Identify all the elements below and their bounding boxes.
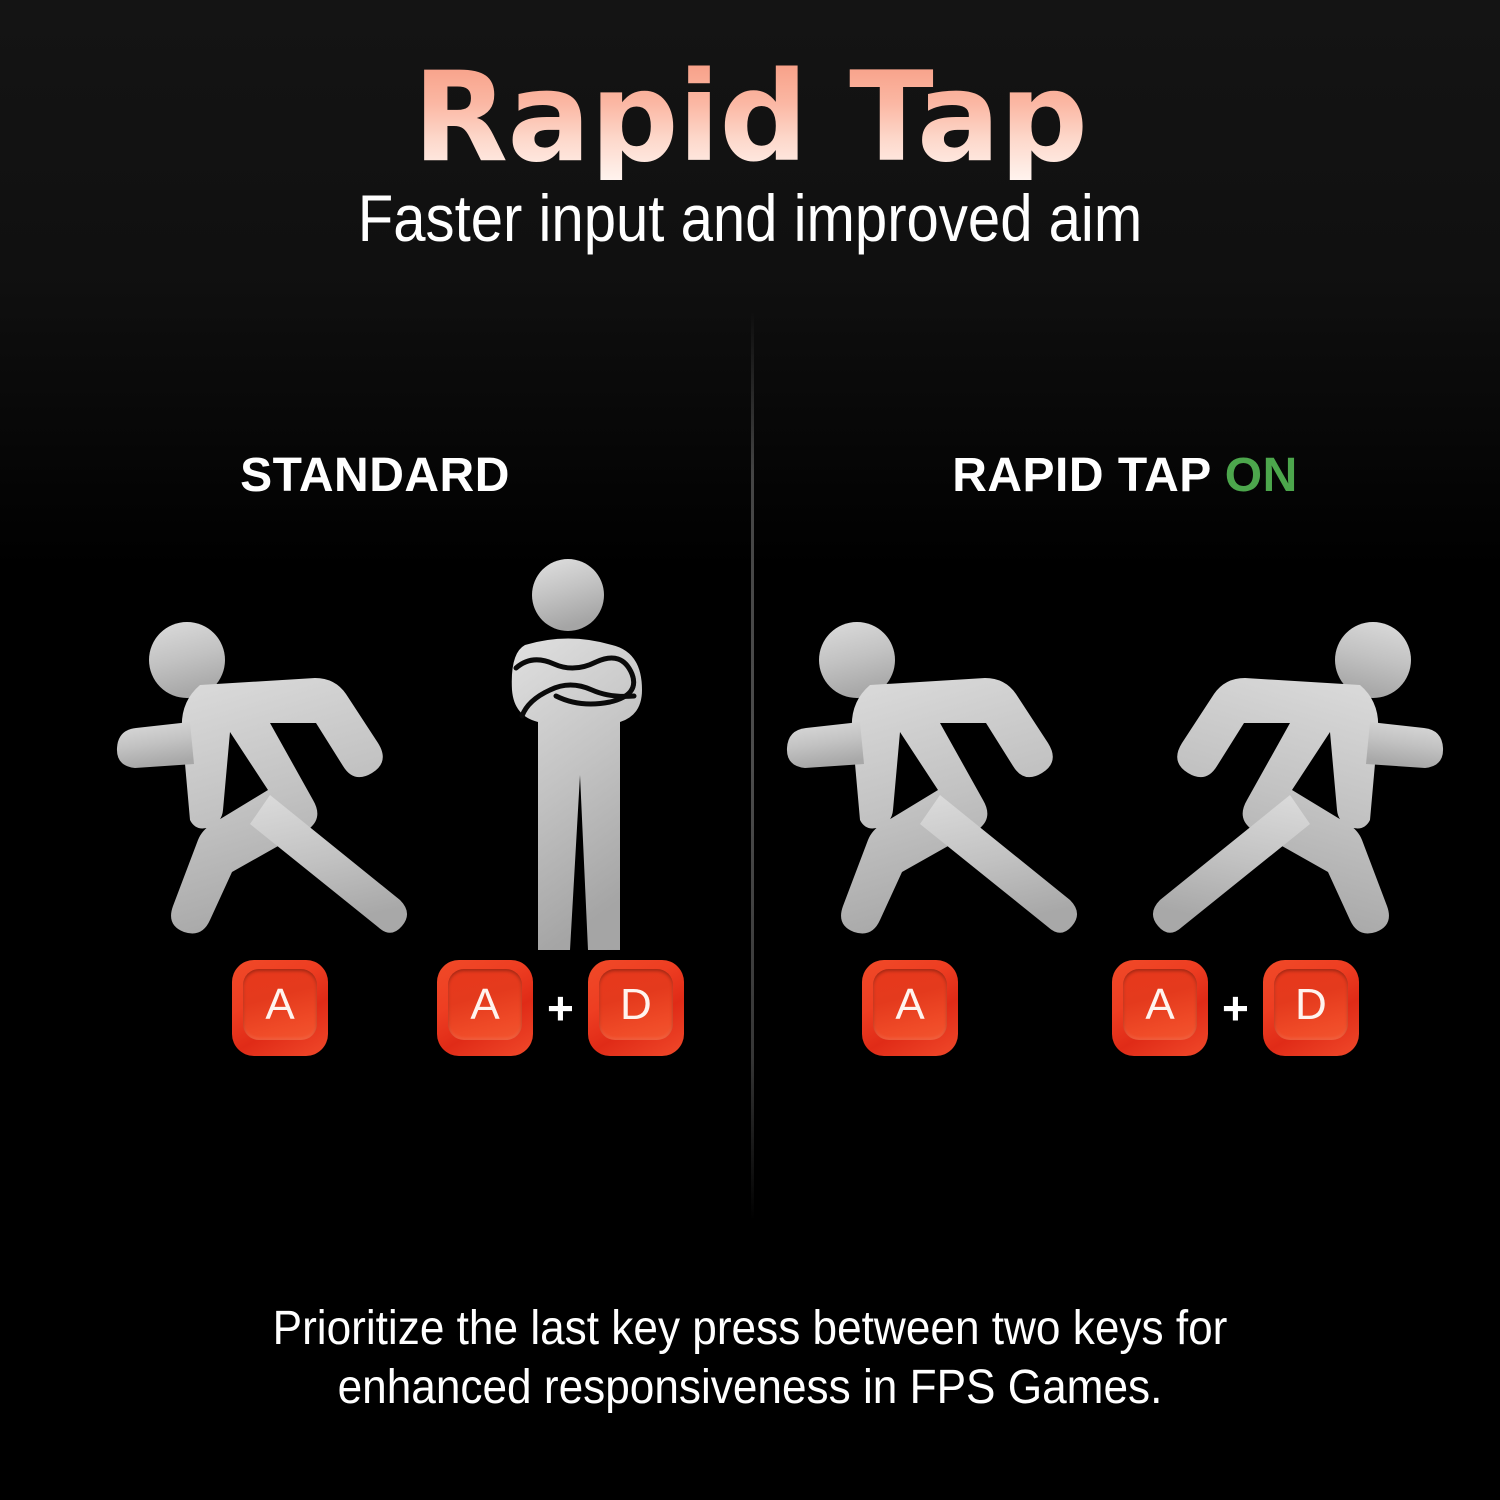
panel-standard-keys: A A + D xyxy=(0,960,750,1080)
page-title: Rapid Tap xyxy=(0,56,1500,180)
keycap-a-label: A xyxy=(895,983,924,1027)
keycap-d[interactable]: D xyxy=(1263,960,1359,1056)
plus-separator-icon: + xyxy=(1208,985,1263,1031)
footer-description: Prioritize the last key press between tw… xyxy=(60,1300,1440,1417)
keycap-a[interactable]: A xyxy=(862,960,958,1056)
panel-standard-label-main: STANDARD xyxy=(240,449,510,502)
panel-rapid-tap-label-state: ON xyxy=(1225,449,1298,502)
running-person-mirrored-icon xyxy=(1150,610,1450,940)
key-group-single: A xyxy=(862,960,958,1056)
panel-standard-label: STANDARD xyxy=(0,448,750,503)
keycap-a-label: A xyxy=(1145,983,1174,1027)
page-subtitle: Faster input and improved aim xyxy=(90,185,1410,251)
footer-line-1: Prioritize the last key press between tw… xyxy=(60,1300,1440,1359)
keycap-a-label: A xyxy=(265,983,294,1027)
keycap-a[interactable]: A xyxy=(232,960,328,1056)
key-group-combo: A + D xyxy=(437,960,684,1056)
panel-standard-figures xyxy=(0,530,750,950)
keycap-a[interactable]: A xyxy=(1112,960,1208,1056)
key-group-single: A xyxy=(232,960,328,1056)
footer-line-2: enhanced responsiveness in FPS Games. xyxy=(60,1359,1440,1418)
running-person-icon xyxy=(110,610,410,940)
keycap-d-label: D xyxy=(620,983,652,1027)
keycap-d-label: D xyxy=(1295,983,1327,1027)
plus-separator-icon: + xyxy=(533,985,588,1031)
running-person-icon xyxy=(780,610,1080,940)
panel-rapid-tap-label-main: RAPID TAP xyxy=(952,449,1211,502)
panel-standard: STANDARD xyxy=(0,430,750,1130)
keycap-d[interactable]: D xyxy=(588,960,684,1056)
rapid-tap-infographic: Rapid Tap Faster input and improved aim … xyxy=(0,0,1500,1500)
panel-rapid-tap-on: RAPID TAP ON xyxy=(750,430,1500,1130)
panel-rapid-tap-label: RAPID TAP ON xyxy=(750,448,1500,503)
standing-person-arms-crossed-icon xyxy=(470,550,730,950)
panel-rapid-tap-keys: A A + D xyxy=(750,960,1500,1080)
keycap-a-label: A xyxy=(470,983,499,1027)
key-group-combo: A + D xyxy=(1112,960,1359,1056)
panel-rapid-tap-figures xyxy=(750,530,1500,950)
keycap-a[interactable]: A xyxy=(437,960,533,1056)
